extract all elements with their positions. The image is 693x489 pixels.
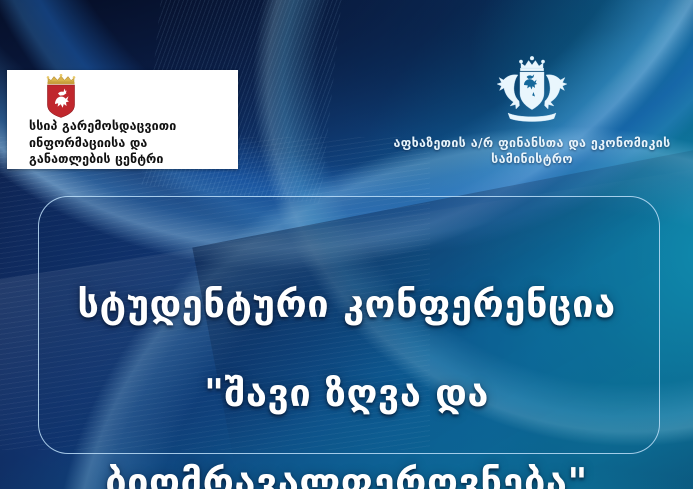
- poster-canvas: სსიპ გარემოსდაცვითი ინფორმაციისა და განა…: [0, 0, 693, 489]
- vignette-overlay: [0, 0, 693, 489]
